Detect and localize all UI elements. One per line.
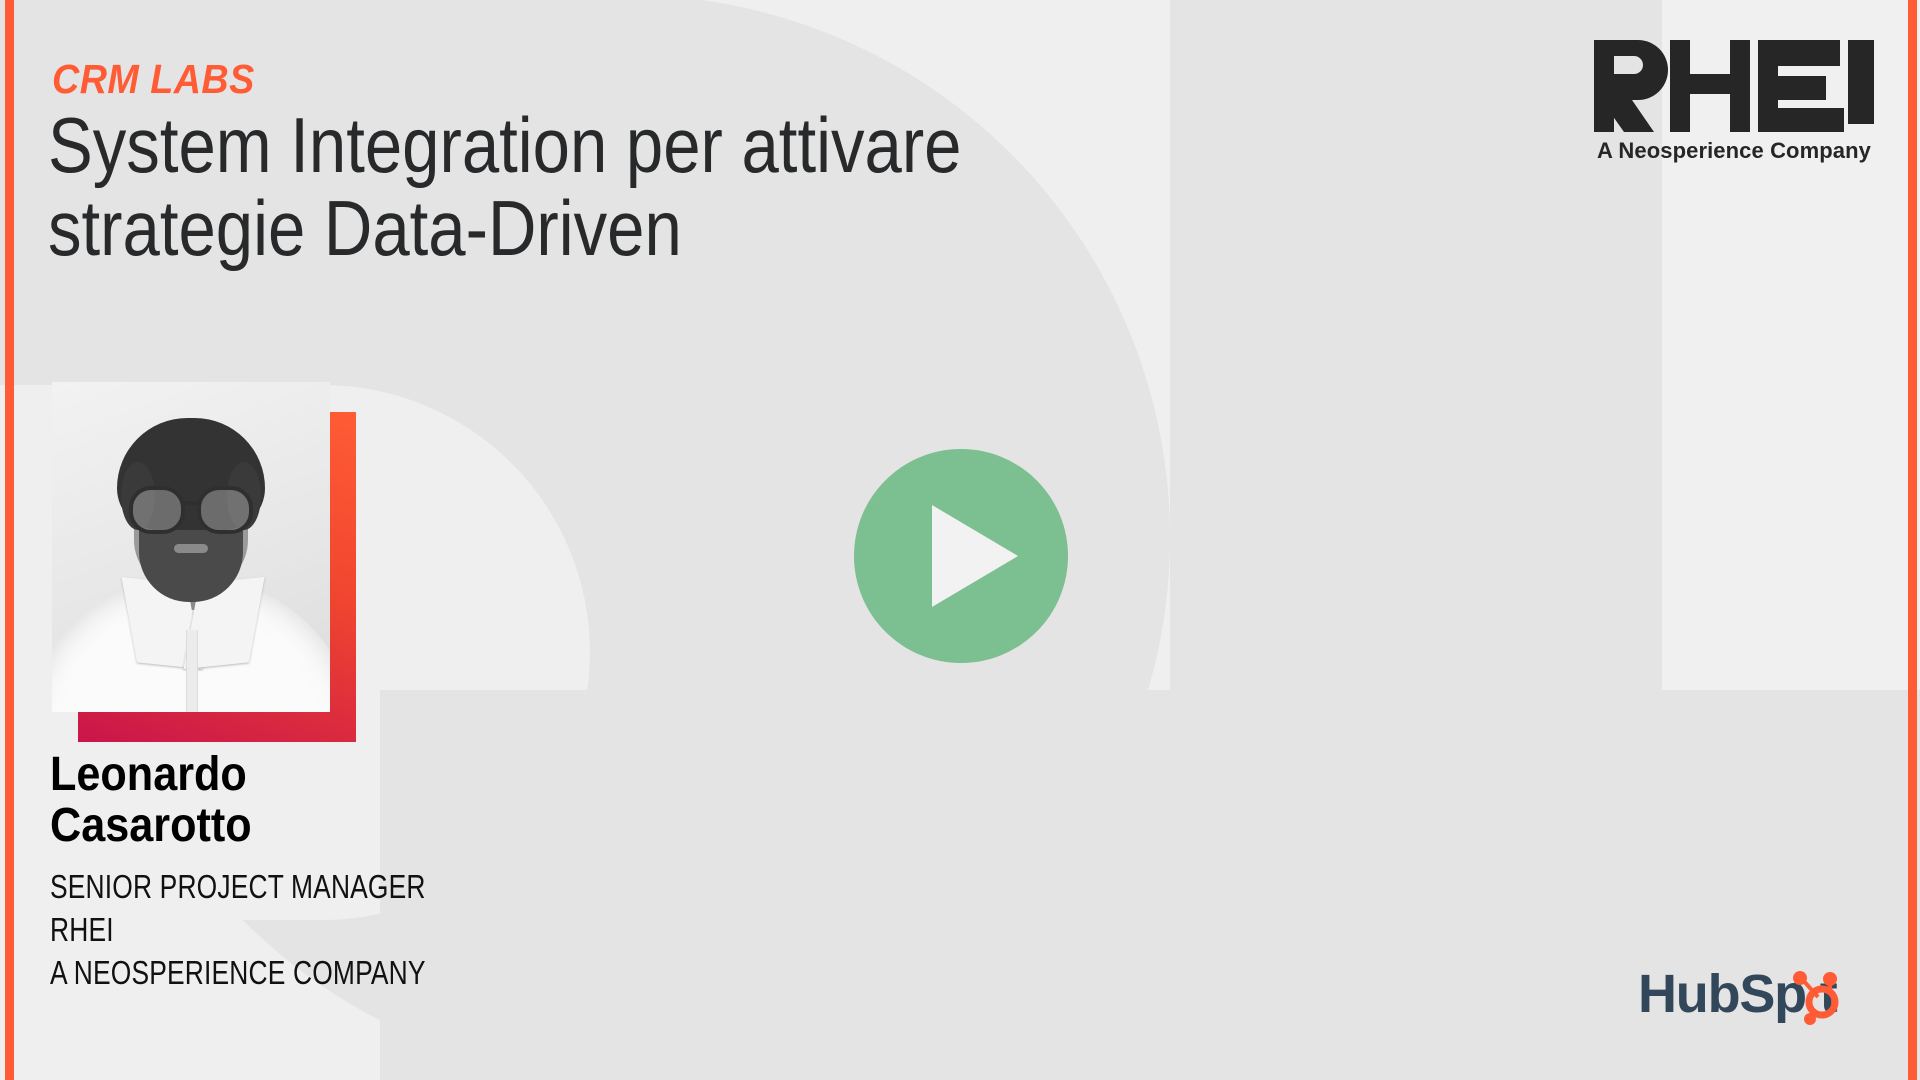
page-title: System Integration per attivare strategi… <box>48 104 1063 269</box>
speaker-role-and-company: SENIOR PROJECT MANAGER RHEI A NEOSPERIEN… <box>50 866 426 995</box>
photo-lens-left <box>129 486 185 534</box>
photo-eyeglasses <box>129 486 253 526</box>
accent-bar-right <box>1908 0 1917 1080</box>
webinar-title-slide: CRM LABS System Integration per attivare… <box>0 0 1920 1080</box>
speaker-photo <box>52 382 330 712</box>
rhei-wordmark-icon <box>1594 36 1874 132</box>
series-eyebrow-label: CRM LABS <box>52 56 255 103</box>
photo-mouth <box>174 544 208 553</box>
accent-bar-left <box>5 0 14 1080</box>
photo-glasses-bridge <box>181 501 201 505</box>
speaker-name: Leonardo Casarotto <box>50 750 252 852</box>
photo-lens-right <box>197 486 253 534</box>
rhei-logo: A Neosperience Company <box>1588 36 1880 168</box>
play-triangle-icon <box>932 505 1018 607</box>
speaker-portrait <box>52 382 330 712</box>
hubspot-sprocket-icon <box>1788 971 1842 1025</box>
rhei-tagline: A Neosperience Company <box>1588 138 1880 164</box>
photo-shirt-placket <box>186 630 198 712</box>
play-video-button[interactable] <box>854 449 1068 663</box>
hubspot-logo: HubSp t <box>1638 965 1878 1027</box>
